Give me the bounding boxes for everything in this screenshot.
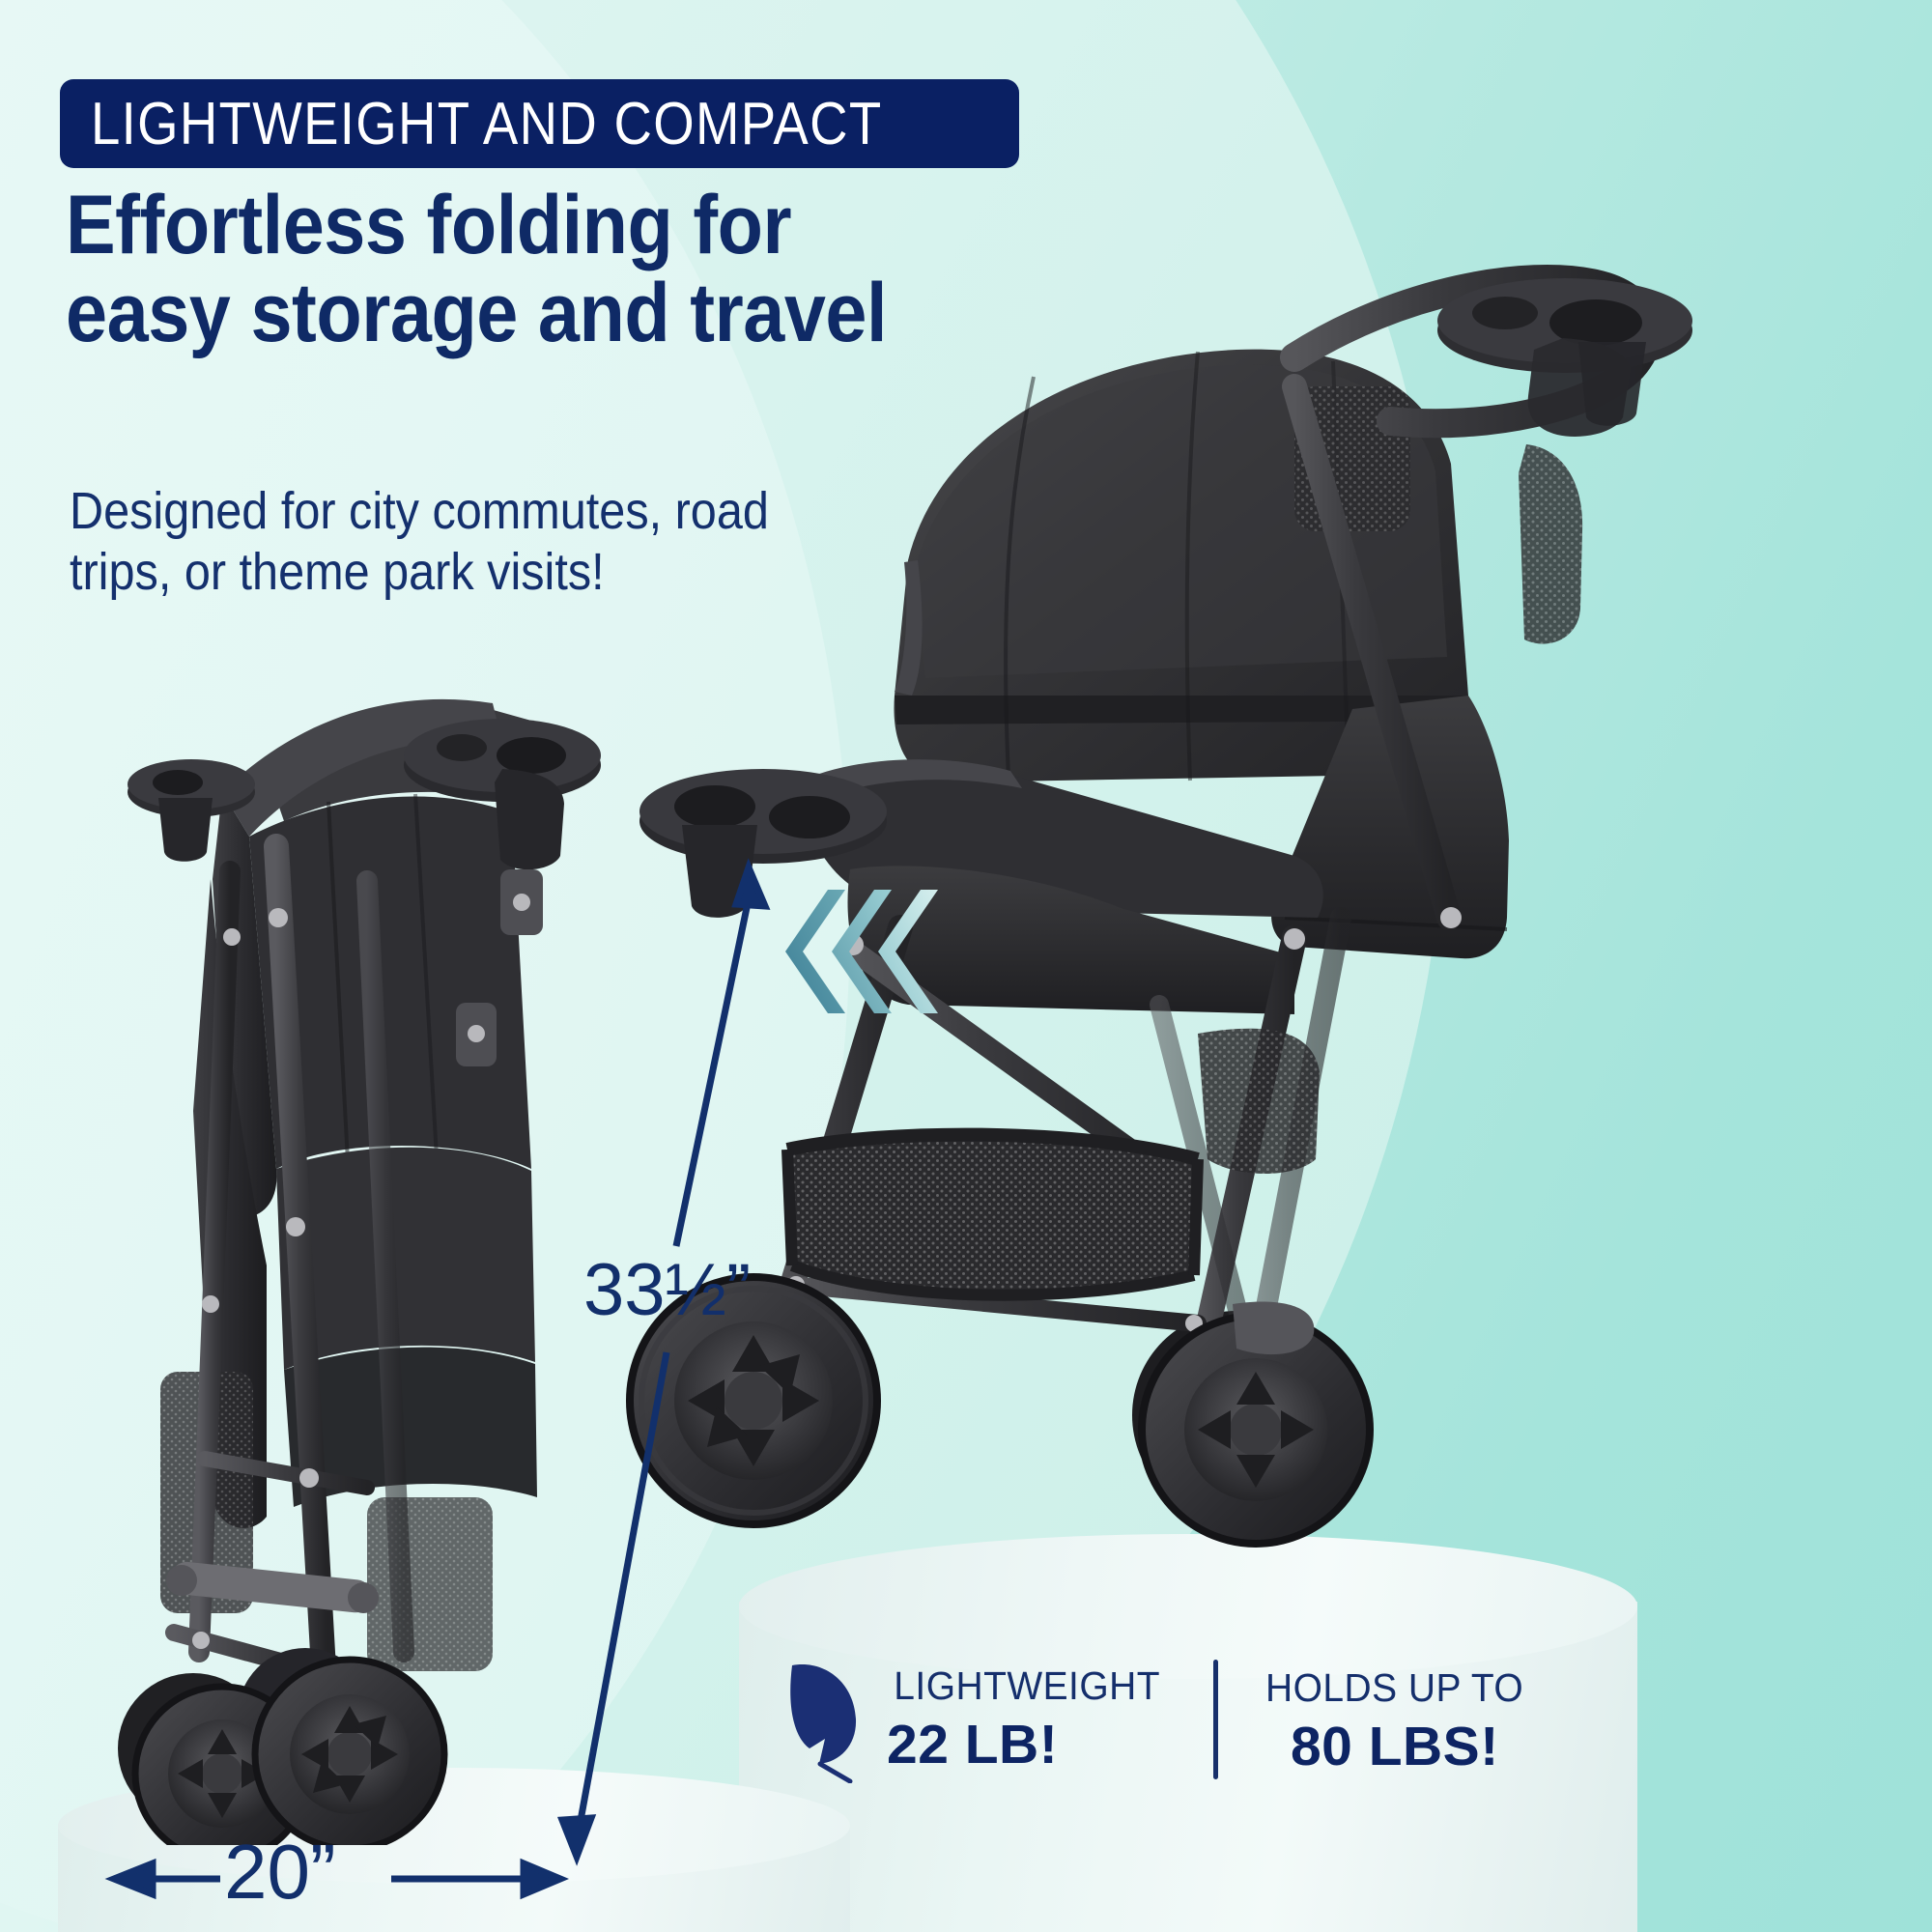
fold-direction-chevrons [778, 884, 971, 1019]
spec-divider [1213, 1660, 1218, 1779]
height-dimension-label: 33½” [583, 1248, 751, 1332]
spec-value-lightweight: 22 LB! [887, 1713, 1167, 1776]
spec-badge-lightweight: LIGHTWEIGHT 22 LB! [753, 1656, 1167, 1783]
brake-pedal [1233, 1302, 1314, 1355]
folded-mesh-basket [367, 1497, 493, 1671]
folded-strap-buckle-2 [456, 1003, 497, 1066]
rear-lower-mesh [1198, 1029, 1320, 1174]
folded-wheel-front [255, 1660, 444, 1845]
section-banner: LIGHTWEIGHT AND COMPACT [60, 79, 1019, 168]
rear-mesh-pocket [1519, 444, 1582, 644]
infographic-canvas: LIGHTWEIGHT AND COMPACT Effortless foldi… [0, 0, 1932, 1932]
feather-icon [781, 1656, 866, 1783]
spec-value-capacity: 80 LBS! [1259, 1715, 1530, 1778]
spec-caption-capacity: HOLDS UP TO [1265, 1665, 1523, 1711]
spec-badges: LIGHTWEIGHT 22 LB! HOLDS UP TO 80 LBS! [753, 1633, 1565, 1806]
banner-label: LIGHTWEIGHT AND COMPACT [91, 90, 883, 158]
folded-strap-buckle [500, 869, 543, 935]
chevron-3-icon [878, 890, 938, 1013]
storage-basket [787, 1135, 1198, 1295]
headline-line-1: Effortless folding for [66, 182, 918, 270]
headline-line-2: easy storage and travel [66, 270, 918, 357]
width-dimension-label: 20” [224, 1828, 336, 1917]
spec-badge-capacity: HOLDS UP TO 80 LBS! [1259, 1662, 1530, 1778]
subcopy-line-1: Designed for city commutes, road [70, 481, 939, 542]
stroller-folded-illustration [77, 628, 696, 1845]
spec-caption-lightweight: LIGHTWEIGHT [894, 1663, 1160, 1709]
subcopy-line-2: trips, or theme park visits! [70, 542, 939, 603]
page-title: Effortless folding for easy storage and … [66, 182, 918, 357]
page-subtitle: Designed for city commutes, road trips, … [70, 481, 939, 602]
